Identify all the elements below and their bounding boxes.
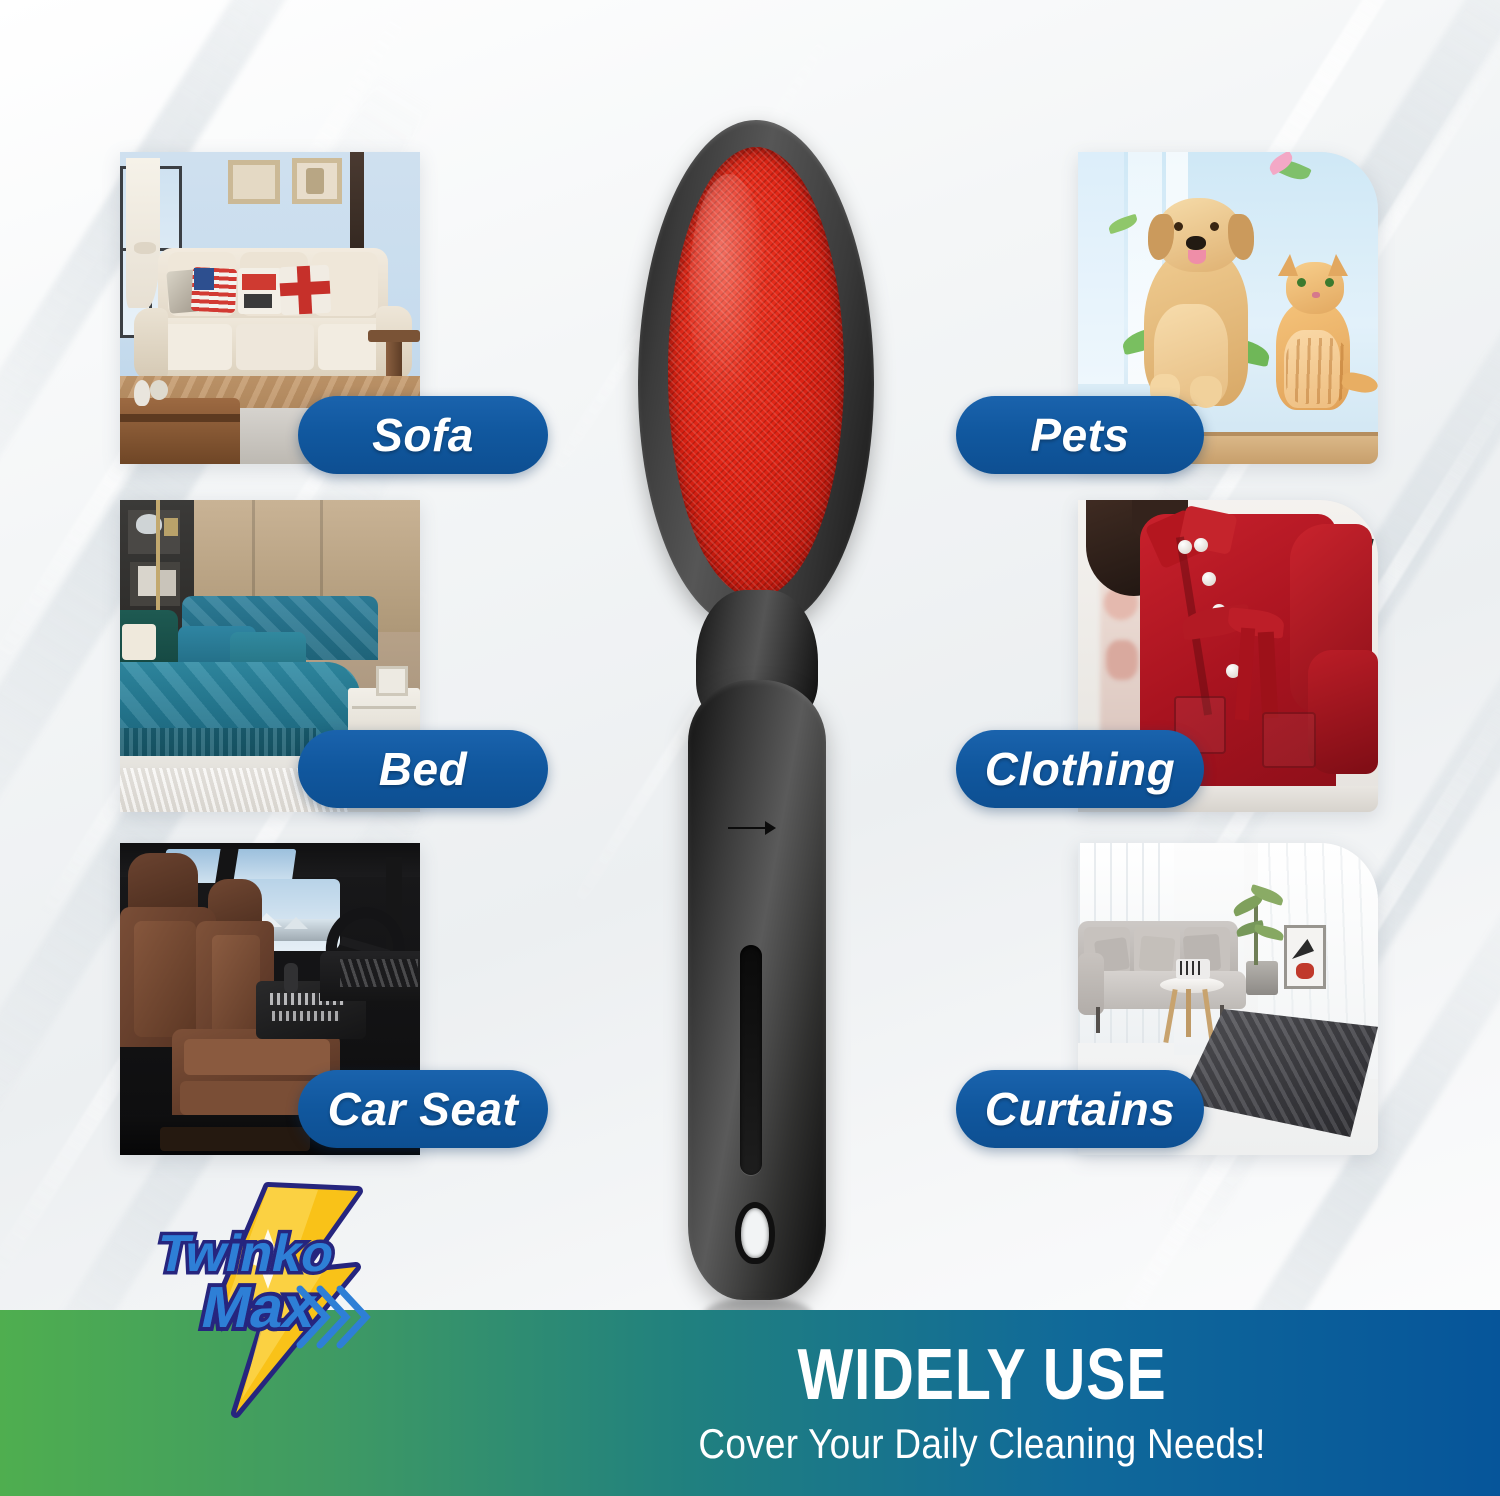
brush-handle: [688, 680, 826, 1300]
category-label-car-seat[interactable]: Car Seat: [298, 1070, 548, 1148]
banner-title: WIDELY USE: [670, 1336, 1293, 1414]
svg-text:Max: Max: [196, 1276, 323, 1340]
category-label-curtains-text: Curtains: [985, 1082, 1176, 1136]
category-label-bed[interactable]: Bed: [298, 730, 548, 808]
category-label-clothing[interactable]: Clothing: [956, 730, 1204, 808]
brush-head: [638, 120, 874, 628]
product-infographic: Sofa: [0, 0, 1500, 1496]
logo-wordmark-twinko: Twinko Twinko: [152, 1225, 340, 1283]
brand-logo: Twinko Twinko Max Max: [150, 1185, 410, 1415]
hanging-hole: [735, 1202, 775, 1264]
category-label-pets-text: Pets: [1030, 408, 1129, 462]
category-label-bed-text: Bed: [379, 742, 467, 796]
brush-pad-highlight: [689, 174, 768, 409]
product-lint-brush: [610, 120, 900, 1310]
svg-text:Twinko: Twinko: [152, 1225, 340, 1283]
category-label-pets[interactable]: Pets: [956, 396, 1204, 474]
category-label-curtains[interactable]: Curtains: [956, 1070, 1204, 1148]
category-label-sofa[interactable]: Sofa: [298, 396, 548, 474]
category-label-car-seat-text: Car Seat: [328, 1082, 519, 1136]
category-label-clothing-text: Clothing: [985, 742, 1176, 796]
banner-subtitle: Cover Your Daily Cleaning Needs!: [648, 1418, 1317, 1470]
banner-text-block: WIDELY USE Cover Your Daily Cleaning Nee…: [602, 1336, 1362, 1470]
direction-arrow-icon: [728, 820, 776, 836]
category-label-sofa-text: Sofa: [372, 408, 474, 462]
logo-wordmark-max: Max Max: [196, 1276, 323, 1340]
brush-pad: [668, 147, 844, 598]
handle-groove: [740, 945, 762, 1175]
